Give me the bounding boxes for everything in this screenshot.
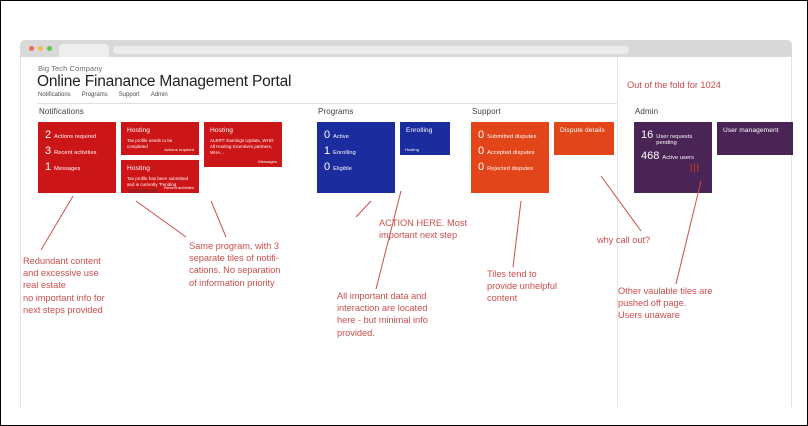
tile-footer-label: Hosting — [405, 147, 419, 152]
tile-hosting-messages[interactable]: Hosting ALERT: Earnings Update, WHO: All… — [204, 122, 282, 167]
stat-submitted-disputes: 0 Submitted disputes — [478, 130, 549, 141]
section-heading-support: Support — [472, 107, 621, 116]
programs-stats: 0 Active 1 Enrolling 0 Eligible — [317, 122, 395, 173]
nav-item-programs[interactable]: Programs — [82, 92, 108, 98]
programs-tile-grid: 0 Active 1 Enrolling 0 Eligible — [317, 122, 457, 197]
stat-label: Active — [333, 134, 349, 140]
stat-value: 0 — [478, 146, 484, 157]
tile-title: Enrolling — [406, 127, 444, 134]
browser-chrome — [20, 40, 792, 58]
header-divider — [37, 103, 617, 104]
page-title: Online Finanance Management Portal — [37, 73, 291, 91]
stat-value: 0 — [478, 130, 484, 141]
window-close-icon[interactable] — [29, 46, 34, 51]
annotation-action-here: ACTION HERE. Most important next step — [379, 217, 467, 241]
annotation-same-program: Same program, with 3 separate tiles of n… — [189, 240, 280, 289]
nav-item-support[interactable]: Support — [119, 92, 140, 98]
nav-item-notifications[interactable]: Notifications — [38, 92, 71, 98]
stat-value: 2 — [45, 130, 51, 141]
stat-value: 1 — [324, 146, 330, 157]
stat-value: 0 — [324, 162, 330, 173]
annotation-all-important-data: All important data and interaction are l… — [337, 290, 428, 339]
stat-recent-activities: 3 Recent activities — [45, 146, 116, 157]
tile-programs-summary[interactable]: 0 Active 1 Enrolling 0 Eligible — [317, 122, 395, 193]
section-support: Support 0 Submitted disputes 0 Accepted … — [471, 107, 621, 197]
section-heading-admin: Admin — [635, 107, 794, 116]
stat-label: Recent activities — [54, 150, 96, 156]
admin-marks-sublabel: ... — [690, 171, 700, 179]
stat-label: Rejected disputes — [487, 166, 533, 172]
support-tile-grid: 0 Submitted disputes 0 Accepted disputes… — [471, 122, 621, 197]
tile-footer-label: Actions required — [164, 147, 194, 152]
stat-value: 1 — [45, 162, 51, 173]
stat-label: Active users — [662, 155, 694, 161]
tile-footer-label: Recent activities — [164, 185, 194, 190]
stat-label: Eligible — [333, 166, 352, 172]
stat-value: 16 — [641, 130, 653, 141]
company-name: Big Tech Company — [38, 64, 102, 73]
annotation-tiles-unhelpful: Tiles tend to provide unhelpful content — [487, 268, 557, 305]
stat-label: Accepted disputes — [487, 150, 534, 156]
stat-messages: 1 Messages — [45, 162, 116, 173]
tile-title: Dispute details — [560, 127, 608, 134]
section-heading-programs: Programs — [318, 107, 457, 116]
annotation-pushed-off-page: Other vaulable tiles are pushed off page… — [618, 285, 712, 322]
section-programs: Programs 0 Active 1 Enrolling 0 — [317, 107, 457, 197]
stat-enrolling: 1 Enrolling — [324, 146, 395, 157]
stat-label: Messages — [54, 166, 80, 172]
section-notifications: Notifications 2 Actions required 3 Recen… — [38, 107, 298, 197]
stat-actions-required: 2 Actions required — [45, 130, 116, 141]
stat-value: 0 — [324, 130, 330, 141]
stat-active-users: 468 Active users — [641, 151, 712, 162]
stat-label: Actions required — [54, 134, 96, 140]
section-heading-notifications: Notifications — [39, 107, 298, 116]
admin-tile-grid: 16 User requests pending 468 Active user… — [634, 122, 794, 197]
stat-user-requests-pending: 16 User requests pending — [641, 130, 712, 146]
annotation-why-call-out: why call out? — [597, 234, 650, 246]
window-minimize-icon[interactable] — [38, 46, 43, 51]
stat-value: 0 — [478, 162, 484, 173]
notifications-tile-grid: 2 Actions required 3 Recent activities 1… — [38, 122, 298, 197]
redacted-value — [128, 189, 158, 193]
tile-hosting-actions-required[interactable]: Hosting Tax profile needs to be complete… — [121, 122, 199, 155]
browser-address-bar[interactable] — [113, 46, 629, 54]
tile-body-text: ALERT: Earnings Update, WHO: All Hosting… — [210, 138, 276, 156]
window-maximize-icon[interactable] — [47, 46, 52, 51]
stat-value: 468 — [641, 151, 659, 162]
annotation-out-of-fold: Out of the fold for 1024 — [627, 79, 721, 91]
tile-dispute-details[interactable]: Dispute details — [554, 122, 614, 155]
notifications-stats: 2 Actions required 3 Recent activities 1… — [38, 122, 116, 173]
tile-user-management[interactable]: User management — [717, 122, 793, 155]
tile-title: Hosting — [127, 165, 193, 172]
admin-stats: 16 User requests pending 468 Active user… — [634, 122, 712, 162]
stat-label: Submitted disputes — [487, 134, 536, 140]
browser-tab[interactable] — [59, 44, 109, 57]
stat-label: Enrolling — [333, 150, 356, 156]
tile-title: User management — [723, 127, 787, 134]
stat-eligible: 0 Eligible — [324, 162, 395, 173]
tile-notifications-summary[interactable]: 2 Actions required 3 Recent activities 1… — [38, 122, 116, 193]
stat-label: User requests pending — [656, 134, 712, 146]
tile-title: Hosting — [210, 127, 276, 134]
stat-accepted-disputes: 0 Accepted disputes — [478, 146, 549, 157]
admin-bar-marks-icon: ||| ... — [690, 163, 700, 179]
nav-item-admin[interactable]: Admin — [151, 92, 168, 98]
tile-footer-label: Messages — [258, 159, 277, 164]
stat-active: 0 Active — [324, 130, 395, 141]
screenshot-root: Big Tech Company Online Finanance Manage… — [0, 0, 808, 426]
tile-hosting-recent-activities[interactable]: Hosting Tax profile has been submitted a… — [121, 160, 199, 193]
stat-rejected-disputes: 0 Rejected disputes — [478, 162, 549, 173]
section-admin: Admin 16 User requests pending 468 Activ… — [634, 107, 794, 197]
annotation-redundant-content: Redundant content and excessive use real… — [23, 255, 105, 316]
tile-support-summary[interactable]: 0 Submitted disputes 0 Accepted disputes… — [471, 122, 549, 193]
tile-enrolling[interactable]: Enrolling Hosting — [400, 122, 450, 155]
stat-value: 3 — [45, 146, 51, 157]
tile-admin-summary[interactable]: 16 User requests pending 468 Active user… — [634, 122, 712, 193]
support-stats: 0 Submitted disputes 0 Accepted disputes… — [471, 122, 549, 173]
tile-title: Hosting — [127, 127, 193, 134]
main-navigation: Notifications Programs Support Admin — [38, 92, 168, 98]
